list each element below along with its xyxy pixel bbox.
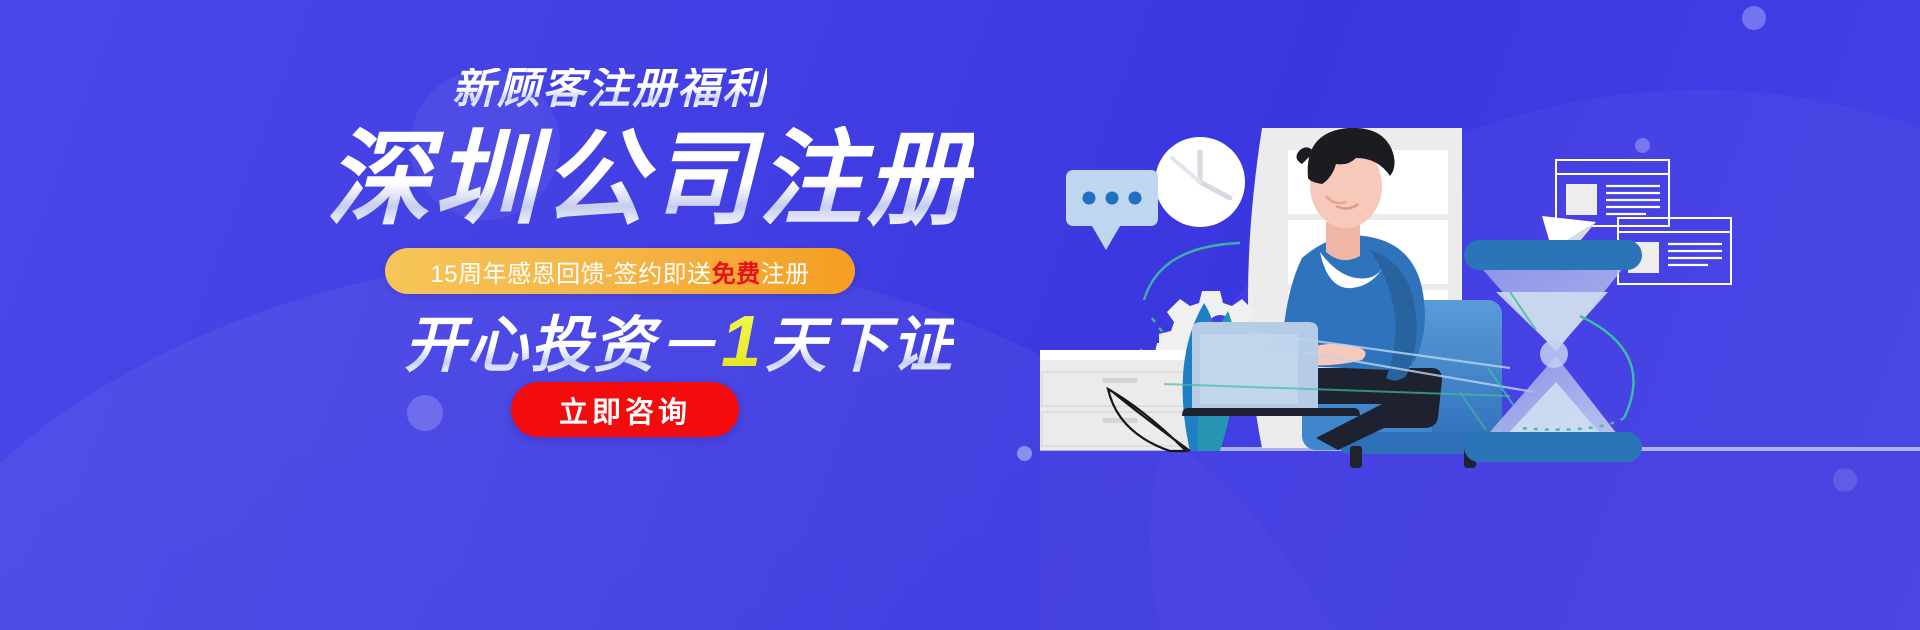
clock-icon xyxy=(1155,137,1245,227)
document-card-top xyxy=(1556,160,1669,226)
tagline-prefix: 开心投资－ xyxy=(404,311,719,379)
tagline-number: 1 xyxy=(719,302,765,382)
promo-text-block: 新顾客注册福利 深圳公司注册 15周年感恩回馈-签约即送免费注册 开心投资－1天… xyxy=(0,0,950,630)
page-title: 深圳公司注册 xyxy=(326,126,974,235)
hero-illustration xyxy=(1040,0,1920,630)
promo-pill-prefix: 15周年感恩回馈-签约即送 xyxy=(430,261,711,288)
promo-pill: 15周年感恩回馈-签约即送免费注册 xyxy=(385,248,855,294)
promo-pill-text: 15周年感恩回馈-签约即送免费注册 xyxy=(430,254,809,289)
tagline-suffix: 天下证 xyxy=(765,311,954,379)
consult-now-label: 立即咨询 xyxy=(559,389,691,431)
speech-bubble-icon xyxy=(1066,170,1158,250)
promo-banner: 新顾客注册福利 深圳公司注册 15周年感恩回馈-签约即送免费注册 开心投资－1天… xyxy=(0,0,1920,630)
eyebrow-text: 新顾客注册福利 xyxy=(452,68,767,111)
decorative-dot xyxy=(1017,446,1032,461)
tagline: 开心投资－1天下证 xyxy=(404,306,954,378)
promo-pill-highlight: 免费 xyxy=(712,261,761,288)
promo-pill-suffix: 注册 xyxy=(761,261,810,288)
consult-now-button[interactable]: 立即咨询 xyxy=(511,382,739,437)
